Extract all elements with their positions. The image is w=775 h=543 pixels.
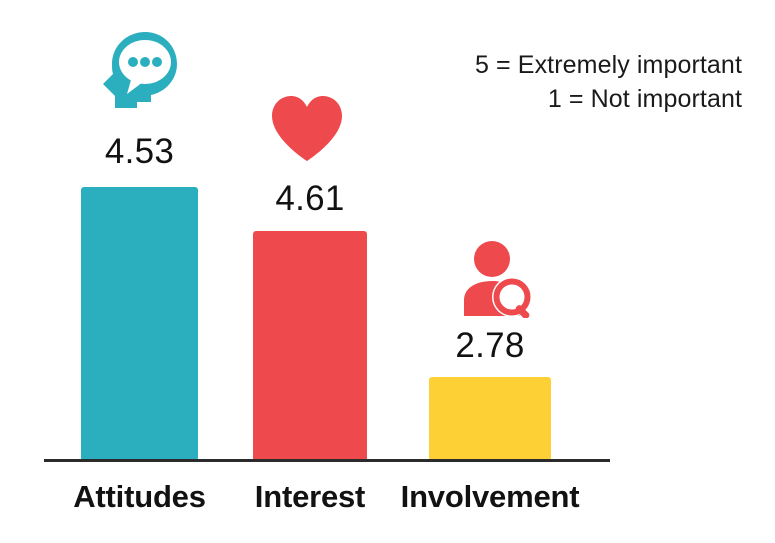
bar-label-interest: Interest [240, 481, 380, 512]
head-speech-bubble-icon [101, 30, 181, 110]
bar-value-involvement: 2.78 [429, 328, 551, 363]
bar-interest[interactable] [253, 231, 367, 461]
bar-value-attitudes: 4.53 [81, 134, 198, 169]
bar-value-interest: 4.61 [253, 181, 367, 216]
heart-icon [270, 95, 344, 163]
bar-involvement[interactable] [429, 377, 551, 461]
bar-chart: 5 = Extremely important 1 = Not importan… [0, 0, 775, 543]
axis-baseline [44, 459, 610, 462]
bar-label-attitudes: Attitudes [51, 481, 228, 512]
bar-label-involvement: Involvement [385, 481, 595, 512]
bar-attitudes[interactable] [81, 187, 198, 461]
person-search-icon [459, 240, 533, 318]
plot-area: 4.53 Attitudes 4.61 Interest [0, 0, 775, 543]
